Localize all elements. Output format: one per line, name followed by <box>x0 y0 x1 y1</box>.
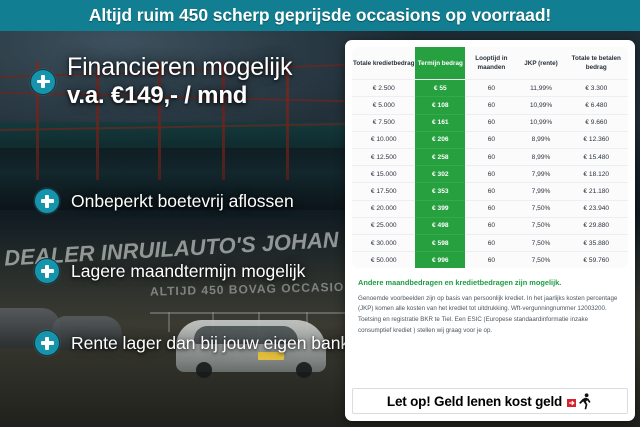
cell-krediet: € 50.000 <box>352 252 415 269</box>
cell-jkp: 10,99% <box>518 114 565 131</box>
cell-jkp: 7,50% <box>518 217 565 234</box>
table-row: € 5.000€ 1086010,99%€ 6.480 <box>352 97 628 114</box>
table-row: € 10.000€ 206608,99%€ 12.360 <box>352 131 628 148</box>
cell-looptijd: 60 <box>465 252 517 269</box>
cell-totaal: € 12.360 <box>564 131 628 148</box>
cell-totaal: € 59.760 <box>564 252 628 269</box>
cell-jkp: 7,50% <box>518 200 565 217</box>
cell-termijn: € 996 <box>415 252 465 269</box>
credit-info-card: Totale kredietbedrag Termijn bedrag Loop… <box>345 40 635 421</box>
table-row: € 2.500€ 556011,99%€ 3.300 <box>352 80 628 97</box>
column-header-termijn: Termijn bedrag <box>415 47 465 80</box>
cell-krediet: € 12.500 <box>352 149 415 166</box>
cell-termijn: € 353 <box>415 183 465 200</box>
feature-label: Onbeperkt boetevrij aflossen <box>71 191 294 212</box>
column-header-krediet: Totale kredietbedrag <box>352 47 415 80</box>
plus-icon <box>34 258 60 284</box>
cell-termijn: € 498 <box>415 217 465 234</box>
cell-krediet: € 15.000 <box>352 166 415 183</box>
cell-totaal: € 21.180 <box>564 183 628 200</box>
table-row: € 25.000€ 498607,50%€ 29.880 <box>352 217 628 234</box>
promo-banner-image: DEALER INRUILAUTO'S JOHAN MEURE ALTIJD 4… <box>0 0 640 427</box>
cell-totaal: € 3.300 <box>564 80 628 97</box>
top-banner: Altijd ruim 450 scherp geprijsde occasio… <box>0 0 640 31</box>
banner-headline: Altijd ruim 450 scherp geprijsde occasio… <box>89 5 551 26</box>
cell-looptijd: 60 <box>465 200 517 217</box>
cell-looptijd: 60 <box>465 131 517 148</box>
afm-running-man-logo <box>567 393 593 410</box>
cell-jkp: 7,50% <box>518 252 565 269</box>
cell-totaal: € 29.880 <box>564 217 628 234</box>
cell-krediet: € 10.000 <box>352 131 415 148</box>
credit-table: Totale kredietbedrag Termijn bedrag Loop… <box>352 47 628 268</box>
cell-jkp: 7,50% <box>518 234 565 251</box>
cell-krediet: € 20.000 <box>352 200 415 217</box>
table-row: € 17.500€ 353607,99%€ 21.180 <box>352 183 628 200</box>
cell-looptijd: 60 <box>465 97 517 114</box>
cell-jkp: 8,99% <box>518 131 565 148</box>
cell-termijn: € 258 <box>415 149 465 166</box>
cell-totaal: € 15.480 <box>564 149 628 166</box>
feature-list: Financieren mogelijk v.a. €149,- / mnd O… <box>0 31 348 427</box>
column-header-jkp: JKP (rente) <box>518 47 565 80</box>
cell-krediet: € 25.000 <box>352 217 415 234</box>
table-row: € 15.000€ 302607,99%€ 18.120 <box>352 166 628 183</box>
credit-table-body: € 2.500€ 556011,99%€ 3.300€ 5.000€ 10860… <box>352 80 628 269</box>
cell-krediet: € 5.000 <box>352 97 415 114</box>
table-row: € 30.000€ 598607,50%€ 35.880 <box>352 234 628 251</box>
disclaimer-title: Andere maandbedragen en kredietbedragen … <box>358 278 622 288</box>
cell-totaal: € 6.480 <box>564 97 628 114</box>
credit-table-container: Totale kredietbedrag Termijn bedrag Loop… <box>352 47 628 268</box>
cell-totaal: € 9.660 <box>564 114 628 131</box>
cell-krediet: € 7.500 <box>352 114 415 131</box>
column-header-looptijd: Looptijd in maanden <box>465 47 517 80</box>
cell-termijn: € 302 <box>415 166 465 183</box>
cell-jkp: 7,99% <box>518 166 565 183</box>
plus-icon <box>34 188 60 214</box>
column-header-totaal: Totale te betalen bedrag <box>564 47 628 80</box>
cell-krediet: € 2.500 <box>352 80 415 97</box>
card-disclaimer: Andere maandbedragen en kredietbedragen … <box>345 268 635 336</box>
table-row: € 12.500€ 258608,99%€ 15.480 <box>352 149 628 166</box>
cell-jkp: 8,99% <box>518 149 565 166</box>
feature-item-rente: Rente lager dan bij jouw eigen bank <box>34 330 349 356</box>
cell-looptijd: 60 <box>465 183 517 200</box>
cell-totaal: € 35.880 <box>564 234 628 251</box>
feature-label: Rente lager dan bij jouw eigen bank <box>71 333 349 354</box>
table-row: € 50.000€ 996607,50%€ 59.760 <box>352 252 628 269</box>
cell-looptijd: 60 <box>465 217 517 234</box>
feature-item-financieren: Financieren mogelijk v.a. €149,- / mnd <box>30 53 292 110</box>
cell-termijn: € 161 <box>415 114 465 131</box>
cell-termijn: € 206 <box>415 131 465 148</box>
cell-termijn: € 108 <box>415 97 465 114</box>
cell-looptijd: 60 <box>465 114 517 131</box>
cell-jkp: 10,99% <box>518 97 565 114</box>
feature-headline-line1: Financieren mogelijk <box>67 53 292 81</box>
cell-krediet: € 30.000 <box>352 234 415 251</box>
table-row: € 20.000€ 399607,50%€ 23.940 <box>352 200 628 217</box>
cell-termijn: € 399 <box>415 200 465 217</box>
feature-label: Lagere maandtermijn mogelijk <box>71 261 305 282</box>
cell-looptijd: 60 <box>465 149 517 166</box>
cell-termijn: € 598 <box>415 234 465 251</box>
cell-looptijd: 60 <box>465 80 517 97</box>
credit-warning-bar: Let op! Geld lenen kost geld <box>352 388 628 414</box>
feature-item-aflossen: Onbeperkt boetevrij aflossen <box>34 188 294 214</box>
feature-item-maandtermijn: Lagere maandtermijn mogelijk <box>34 258 305 284</box>
cell-looptijd: 60 <box>465 234 517 251</box>
warning-text: Let op! Geld lenen kost geld <box>387 394 562 409</box>
disclaimer-body: Genoemde voorbeelden zijn op basis van p… <box>358 294 622 337</box>
plus-icon <box>34 330 60 356</box>
cell-looptijd: 60 <box>465 166 517 183</box>
plus-icon <box>30 69 56 95</box>
cell-jkp: 7,99% <box>518 183 565 200</box>
table-row: € 7.500€ 1616010,99%€ 9.660 <box>352 114 628 131</box>
cell-jkp: 11,99% <box>518 80 565 97</box>
cell-termijn: € 55 <box>415 80 465 97</box>
table-header-row: Totale kredietbedrag Termijn bedrag Loop… <box>352 47 628 80</box>
cell-totaal: € 23.940 <box>564 200 628 217</box>
cell-totaal: € 18.120 <box>564 166 628 183</box>
cell-krediet: € 17.500 <box>352 183 415 200</box>
feature-headline-line2: v.a. €149,- / mnd <box>67 82 247 109</box>
